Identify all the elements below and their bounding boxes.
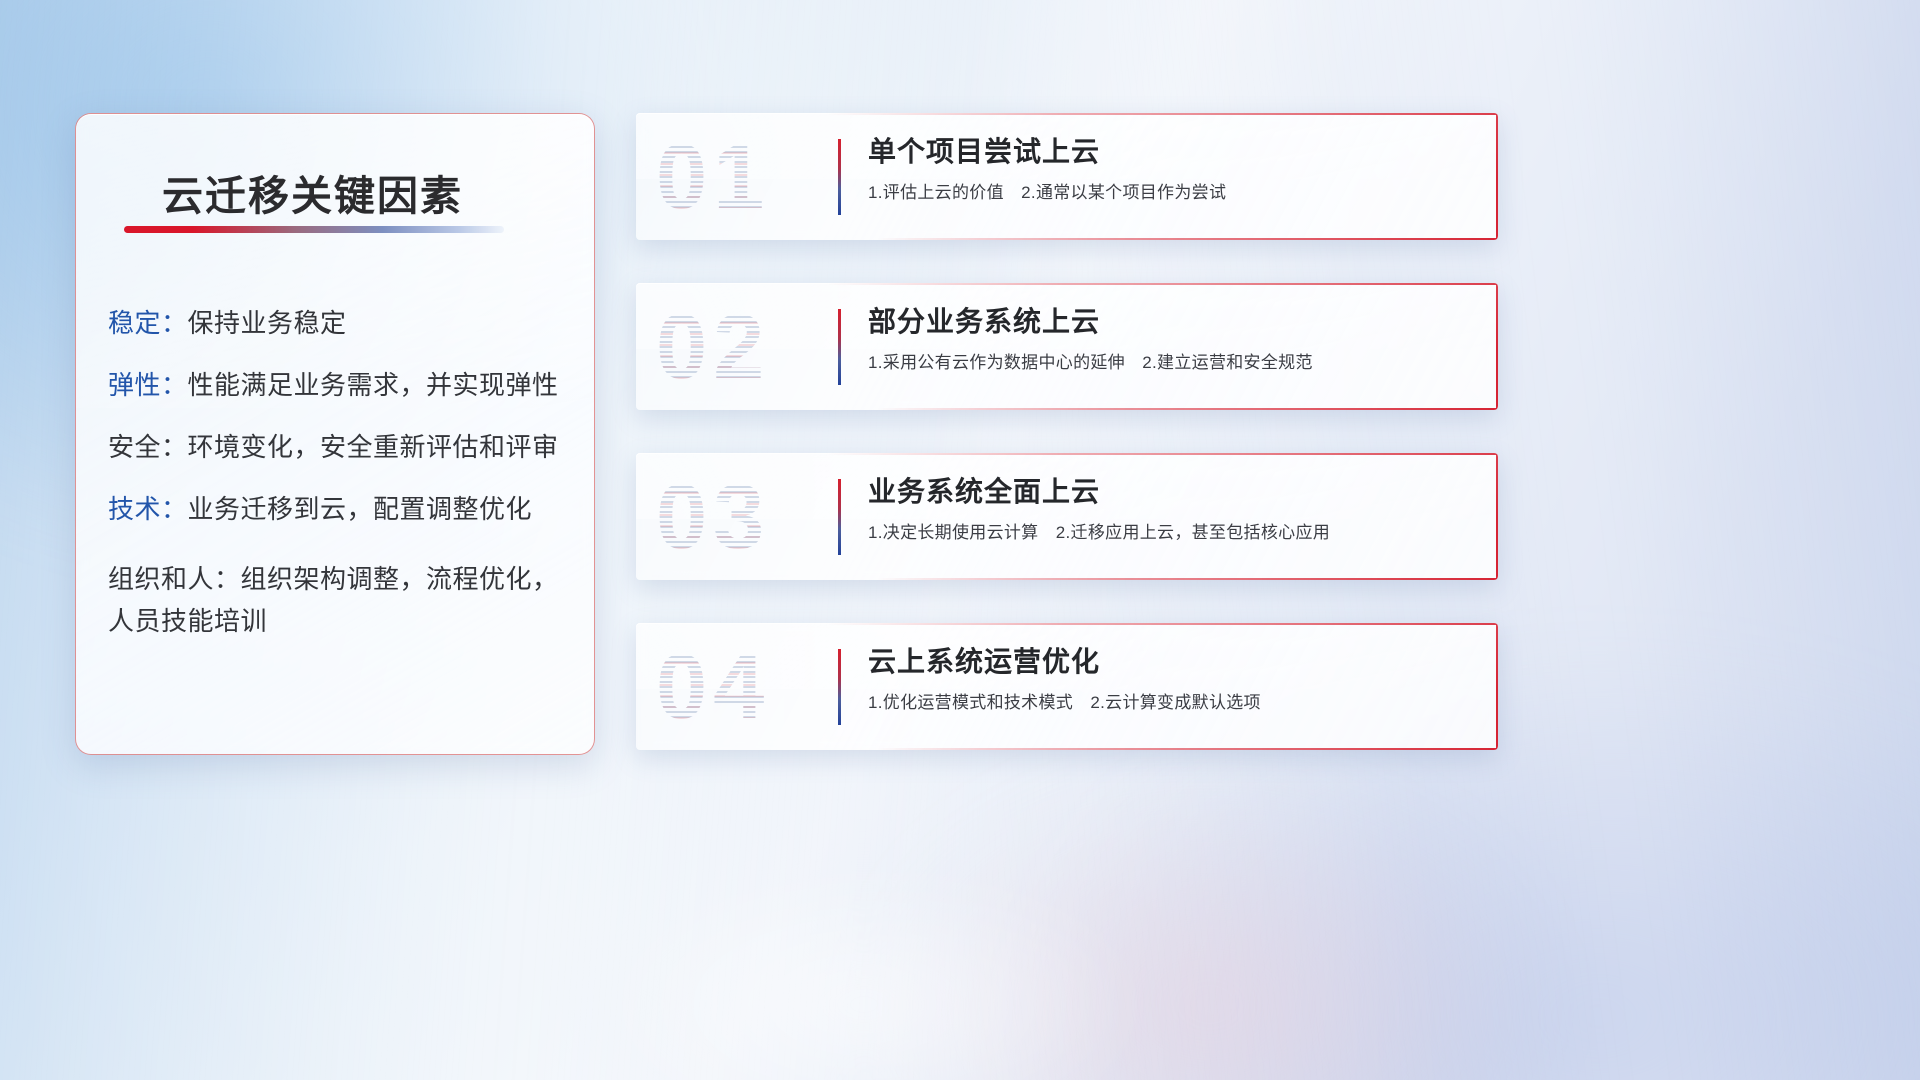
card-edge-right-accent	[1496, 283, 1498, 410]
card-edge-bottom-accent	[877, 578, 1498, 580]
card-number-watermark-red-scanline: 02	[656, 291, 846, 403]
page-title: 云迁移关键因素	[162, 162, 562, 222]
card-body: 云上系统运营优化 1.优化运营模式和技术模式 2.云计算变成默认选项	[868, 645, 1470, 714]
card-title: 单个项目尝试上云	[868, 135, 1470, 169]
card-divider-bar	[838, 479, 841, 555]
slide-stage: 云迁移关键因素 稳定：保持业务稳定 弹性：性能满足业务需求，并实现弹性 安全：环…	[0, 0, 1920, 1080]
title-underline-accent	[124, 226, 504, 233]
factor-text: 环境变化，安全重新评估和评审	[188, 432, 559, 462]
card-edge-bottom-accent	[877, 238, 1498, 240]
factor-label: 稳定：	[108, 308, 188, 338]
factor-label: 组织和人：	[108, 564, 241, 594]
card-edge-top-accent	[826, 623, 1498, 625]
key-factors-panel: 云迁移关键因素 稳定：保持业务稳定 弹性：性能满足业务需求，并实现弹性 安全：环…	[75, 113, 595, 755]
factor-text: 保持业务稳定	[188, 308, 347, 338]
card-body: 部分业务系统上云 1.采用公有云作为数据中心的延伸 2.建立运营和安全规范	[868, 305, 1470, 374]
card-number-watermark-red-scanline: 04	[656, 631, 846, 743]
card-body: 单个项目尝试上云 1.评估上云的价值 2.通常以某个项目作为尝试	[868, 135, 1470, 204]
card-description: 1.优化运营模式和技术模式 2.云计算变成默认选项	[868, 692, 1470, 714]
card-edge-bottom-accent	[877, 748, 1498, 750]
card-edge-top-accent	[826, 113, 1498, 115]
stage-card-03[interactable]: 03 03 业务系统全面上云 1.决定长期使用云计算 2.迁移应用上云，甚至包括…	[636, 453, 1498, 580]
factor-label: 技术：	[108, 494, 188, 524]
factor-row: 稳定：保持业务稳定	[108, 310, 570, 336]
stage-card-02[interactable]: 02 02 部分业务系统上云 1.采用公有云作为数据中心的延伸 2.建立运营和安…	[636, 283, 1498, 410]
card-edge-bottom-accent	[877, 408, 1498, 410]
factor-text: 业务迁移到云，配置调整优化	[188, 494, 533, 524]
card-edge-top-accent	[826, 283, 1498, 285]
factor-label: 弹性：	[108, 370, 188, 400]
card-edge-right-accent	[1496, 113, 1498, 240]
card-edge-top-accent	[826, 453, 1498, 455]
factor-list: 稳定：保持业务稳定 弹性：性能满足业务需求，并实现弹性 安全：环境变化，安全重新…	[108, 310, 570, 678]
stage-card-01[interactable]: 01 01 单个项目尝试上云 1.评估上云的价值 2.通常以某个项目作为尝试	[636, 113, 1498, 240]
card-edge-right-accent	[1496, 453, 1498, 580]
card-description: 1.决定长期使用云计算 2.迁移应用上云，甚至包括核心应用	[868, 522, 1470, 544]
card-title: 部分业务系统上云	[868, 305, 1470, 339]
factor-row: 组织和人：组织架构调整，流程优化，人员技能培训	[108, 558, 570, 642]
card-description: 1.评估上云的价值 2.通常以某个项目作为尝试	[868, 182, 1470, 204]
stage-card-04[interactable]: 04 04 云上系统运营优化 1.优化运营模式和技术模式 2.云计算变成默认选项	[636, 623, 1498, 750]
factor-text: 性能满足业务需求，并实现弹性	[188, 370, 559, 400]
card-number-watermark-red-scanline: 01	[656, 121, 846, 233]
card-description: 1.采用公有云作为数据中心的延伸 2.建立运营和安全规范	[868, 352, 1470, 374]
factor-label: 安全：	[108, 432, 188, 462]
card-title: 业务系统全面上云	[868, 475, 1470, 509]
card-title: 云上系统运营优化	[868, 645, 1470, 679]
card-divider-bar	[838, 309, 841, 385]
stage-card-list: 01 01 单个项目尝试上云 1.评估上云的价值 2.通常以某个项目作为尝试 0…	[636, 113, 1498, 793]
factor-row: 技术：业务迁移到云，配置调整优化	[108, 496, 570, 522]
factor-row: 安全：环境变化，安全重新评估和评审	[108, 434, 570, 460]
card-divider-bar	[838, 649, 841, 725]
card-edge-right-accent	[1496, 623, 1498, 750]
factor-row: 弹性：性能满足业务需求，并实现弹性	[108, 372, 570, 398]
card-number-watermark-red-scanline: 03	[656, 461, 846, 573]
card-divider-bar	[838, 139, 841, 215]
card-body: 业务系统全面上云 1.决定长期使用云计算 2.迁移应用上云，甚至包括核心应用	[868, 475, 1470, 544]
